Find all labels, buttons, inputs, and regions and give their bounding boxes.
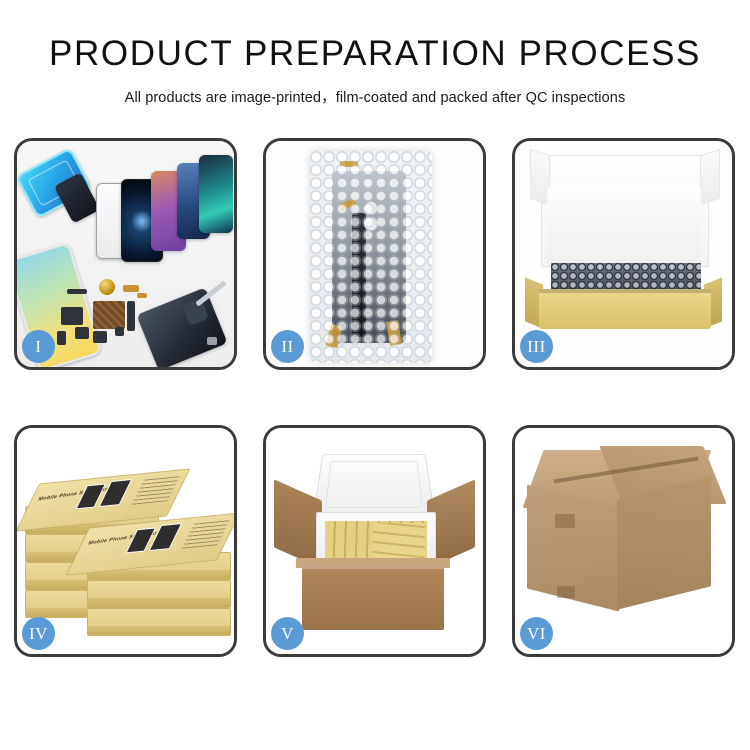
camera-module-part xyxy=(93,331,107,343)
teal-gradient-phone xyxy=(199,155,233,233)
process-step-panel-5[interactable]: V xyxy=(263,425,486,657)
process-step-panel-4[interactable]: Mobile Phone Spare Parts Mobile Phone Sp… xyxy=(14,425,237,657)
parts-overview-illustration xyxy=(17,141,234,367)
bubble-wrapped-part-illustration xyxy=(266,141,483,367)
box-front-yellow xyxy=(539,289,711,329)
process-step-panel-1[interactable]: I xyxy=(14,138,237,370)
sealed-carton-illustration xyxy=(515,428,732,654)
box-spec-lines-top xyxy=(130,476,179,508)
panel-image-2 xyxy=(266,141,483,367)
page-title: PRODUCT PREPARATION PROCESS xyxy=(0,36,750,73)
bubble-wrap-bag xyxy=(310,151,432,363)
sim-tray-part xyxy=(57,331,66,345)
bubble-texture-overlay xyxy=(310,151,432,363)
gold-coil-part xyxy=(99,279,115,295)
carton-packing-illustration xyxy=(266,428,483,654)
carton-front-face xyxy=(302,564,444,630)
logic-board-part xyxy=(93,301,125,329)
step-badge-4: IV xyxy=(22,617,55,650)
stacked-boxes-illustration: Mobile Phone Spare Parts Mobile Phone Sp… xyxy=(17,428,234,654)
step-badge-1: I xyxy=(22,330,55,363)
carton-flap-left xyxy=(274,479,322,568)
connector-part xyxy=(137,293,147,298)
header: PRODUCT PREPARATION PROCESS All products… xyxy=(0,0,750,107)
carton-face-right xyxy=(617,476,711,609)
carton-tab-lower xyxy=(557,586,575,598)
process-step-panel-6[interactable]: VI xyxy=(512,425,735,657)
step-badge-5: V xyxy=(271,617,304,650)
step-badge-6: VI xyxy=(520,617,553,650)
panel-image-5 xyxy=(266,428,483,654)
speaker-part xyxy=(67,289,87,294)
small-bracket-part xyxy=(75,327,89,339)
panel-image-1 xyxy=(17,141,234,367)
box-spec-lines-second xyxy=(180,520,229,552)
panel-image-3 xyxy=(515,141,732,367)
page-subtitle: All products are image-printed，film-coat… xyxy=(0,86,750,107)
stacked-box-right-3 xyxy=(87,608,231,636)
process-step-panel-2[interactable]: II xyxy=(263,138,486,370)
open-inner-box-illustration xyxy=(515,141,732,367)
step-badge-3: III xyxy=(520,330,553,363)
panel-image-6 xyxy=(515,428,732,654)
box-stack: Mobile Phone Spare Parts Mobile Phone Sp… xyxy=(25,454,230,636)
step-badge-2: II xyxy=(271,330,304,363)
bracket-part xyxy=(61,307,83,325)
bubble-wrap-contents xyxy=(551,263,701,291)
foam-insert xyxy=(547,187,701,263)
foam-box-lid xyxy=(313,454,435,517)
button-part xyxy=(115,327,124,336)
infographic-page: PRODUCT PREPARATION PROCESS All products… xyxy=(0,0,750,750)
panel-image-4: Mobile Phone Spare Parts Mobile Phone Sp… xyxy=(17,428,234,654)
carton-tab-upper xyxy=(555,514,575,528)
phone-back-housing xyxy=(136,287,227,367)
screw-set xyxy=(207,337,217,345)
process-step-panel-3[interactable]: III xyxy=(512,138,735,370)
flex-cable-part xyxy=(123,285,139,292)
yellow-boxes-row-2 xyxy=(373,523,425,561)
ribbon-cable-part xyxy=(127,301,135,331)
process-step-grid: I II xyxy=(14,138,736,657)
stacked-box-right-2 xyxy=(87,580,231,608)
